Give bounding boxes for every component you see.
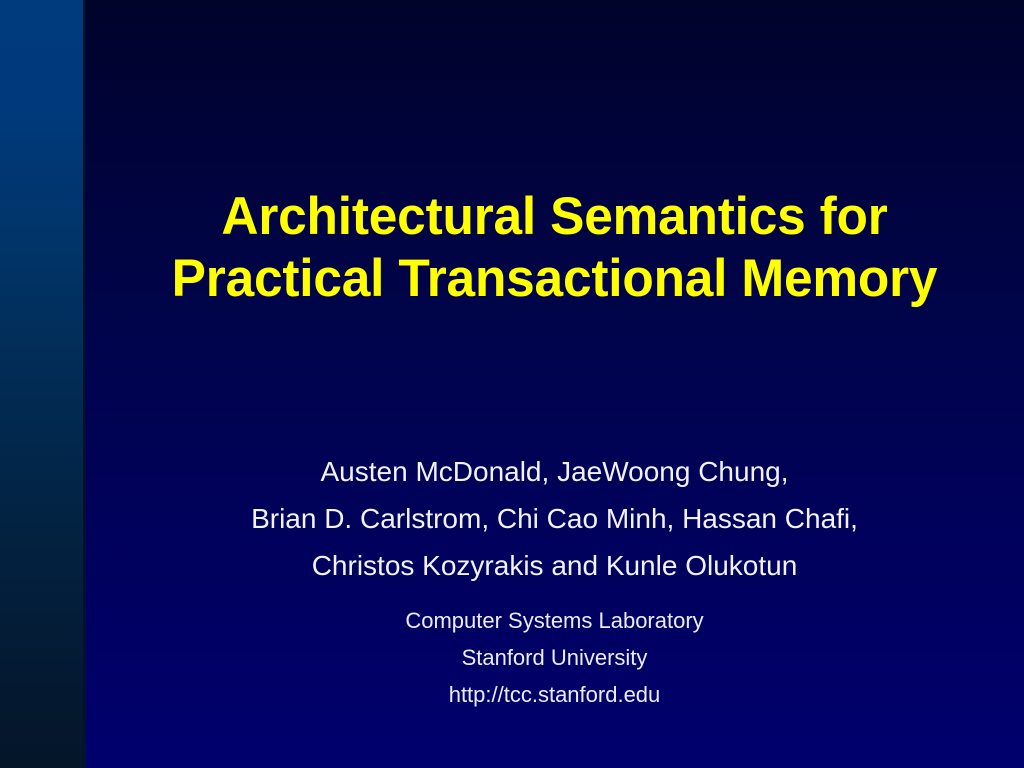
affiliation: Computer Systems Laboratory Stanford Uni… — [85, 602, 1024, 713]
title-line-2: Practical Transactional Memory — [99, 248, 1010, 310]
author-line-3: Christos Kozyrakis and Kunle Olukotun — [85, 542, 1024, 589]
author-list: Austen McDonald, JaeWoong Chung, Brian D… — [85, 448, 1024, 589]
left-accent-stripe — [0, 0, 83, 768]
author-line-2: Brian D. Carlstrom, Chi Cao Minh, Hassan… — [85, 495, 1024, 542]
slide-title: Architectural Semantics for Practical Tr… — [85, 186, 1024, 310]
presentation-slide: Architectural Semantics for Practical Tr… — [0, 0, 1024, 768]
title-line-1: Architectural Semantics for — [99, 186, 1010, 248]
affiliation-lab: Computer Systems Laboratory — [85, 602, 1024, 639]
affiliation-url[interactable]: http://tcc.stanford.edu — [85, 676, 1024, 713]
affiliation-institution: Stanford University — [85, 639, 1024, 676]
author-line-1: Austen McDonald, JaeWoong Chung, — [85, 448, 1024, 495]
